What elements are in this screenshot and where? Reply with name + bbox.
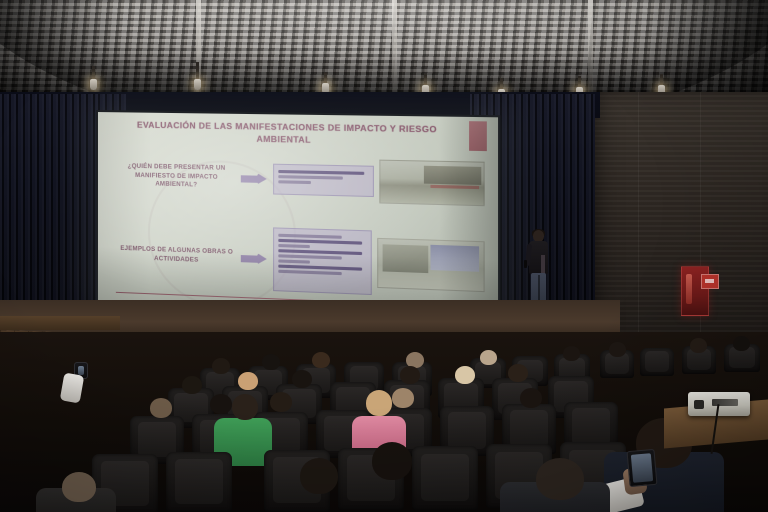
audience-head xyxy=(455,366,475,384)
audience-head xyxy=(480,350,497,365)
projection-screen: EVALUACIÓN DE LAS MANIFESTACIONES DE IMP… xyxy=(98,112,498,321)
audience-head xyxy=(300,458,338,494)
fire-extinguisher-icon xyxy=(686,274,692,304)
audience-head xyxy=(270,392,292,412)
audience-head xyxy=(182,376,202,394)
fire-sign-icon xyxy=(701,274,719,289)
audience-head xyxy=(262,354,280,370)
slide-row: ¿QUIÉN DEBE PRESENTAR UN MANIFIESTO DE I… xyxy=(118,152,485,208)
audience-area xyxy=(0,332,768,512)
presentation-slide: EVALUACIÓN DE LAS MANIFESTACIONES DE IMP… xyxy=(114,118,489,314)
slide-row-label: ¿QUIÉN DEBE PRESENTAR UN MANIFIESTO DE I… xyxy=(118,163,236,192)
audience-head xyxy=(520,388,542,408)
projector-lens-icon xyxy=(694,400,704,409)
audience-head xyxy=(232,394,258,420)
slide-title: EVALUACIÓN DE LAS MANIFESTACIONES DE IMP… xyxy=(114,118,489,149)
projector-control-panel xyxy=(712,399,738,406)
fire-extinguisher-cabinet xyxy=(681,266,709,316)
right-arrow-icon xyxy=(241,172,268,186)
audience-head xyxy=(392,388,414,408)
phone-screen xyxy=(631,453,653,483)
audience-head xyxy=(312,352,330,368)
smartphone-icon xyxy=(626,449,657,487)
slide-accent-block xyxy=(469,121,487,151)
audience-head xyxy=(508,364,528,382)
seat xyxy=(166,452,232,512)
right-arrow-icon xyxy=(241,251,268,265)
microphone-icon xyxy=(524,260,527,268)
audience-head xyxy=(563,346,580,361)
audience-head xyxy=(62,472,96,502)
presenter-shirt xyxy=(541,255,545,275)
ceiling xyxy=(0,0,768,96)
slide-textbox xyxy=(273,227,372,295)
ceiling-lamp-stem xyxy=(92,66,95,80)
audience-head xyxy=(609,342,626,357)
audience-head xyxy=(212,358,230,374)
seat xyxy=(412,446,478,510)
audience-head xyxy=(733,336,750,351)
audience-head xyxy=(150,398,172,418)
audience-head xyxy=(210,394,232,414)
slide-row-label: EJEMPLOS DE ALGUNAS OBRAS O ACTIVIDADES xyxy=(118,245,236,267)
ceiling-lamp-icon xyxy=(90,79,97,90)
audience-head xyxy=(690,338,707,353)
auditorium-photo: EVALUACIÓN DE LAS MANIFESTACIONES DE IMP… xyxy=(0,0,768,512)
ceiling-lamp-icon xyxy=(194,79,201,90)
audience-head xyxy=(238,372,258,390)
ceiling-shading xyxy=(0,0,768,96)
ceiling-lamp-stem xyxy=(196,62,199,80)
audience-head xyxy=(536,458,584,500)
slide-textbox xyxy=(273,164,374,197)
slide-photo-warehouse xyxy=(377,238,484,292)
seat xyxy=(640,348,674,376)
audience-head xyxy=(292,370,312,388)
audience-head xyxy=(400,366,420,384)
audience-head xyxy=(366,390,392,416)
projection-screen-frame: EVALUACIÓN DE LAS MANIFESTACIONES DE IMP… xyxy=(96,110,500,324)
stage-step xyxy=(0,316,120,330)
slide-photo-industrial xyxy=(379,160,484,207)
audience-head xyxy=(372,442,412,480)
